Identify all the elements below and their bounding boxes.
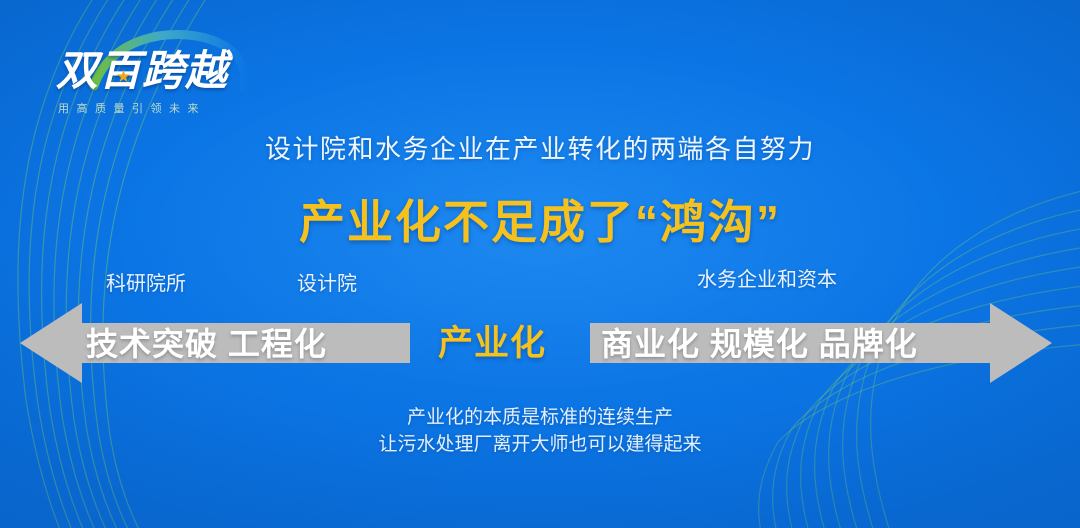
logo: 双百跨越 ★ 用高质量引领未来 [52,24,262,116]
subheading: 设计院和水务企业在产业转化的两端各自努力 [0,129,1080,166]
slide-canvas: 双百跨越 ★ 用高质量引领未来 设计院和水务企业在产业转化的两端各自努力 产业化… [0,0,1080,528]
footnote-line-1: 产业化的本质是标准的连续生产 [0,404,1080,431]
caption-water-enterprises: 水务企业和资本 [697,263,837,292]
footnote: 产业化的本质是标准的连续生产 让污水处理厂离开大师也可以建得起来 [0,404,1080,458]
arrow-diagram: 科研院所 设计院 水务企业和资本 技术突破 工程化 产业化 商业化 规模化 品牌… [0,262,1080,392]
logo-wordmark: 双百跨越 [56,50,228,92]
caption-research-institutes: 科研院所 [106,267,186,296]
left-arrow-label: 技术突破 工程化 [86,328,327,360]
logo-tagline: 用高质量引领未来 [58,100,206,116]
footnote-line-2: 让污水处理厂离开大师也可以建得起来 [0,431,1080,458]
right-arrow-label: 商业化 规模化 品牌化 [601,328,918,360]
caption-design-institute: 设计院 [297,267,357,296]
main-headline: 产业化不足成了“鸿沟” [0,186,1080,252]
center-gap-label: 产业化 [438,326,546,361]
logo-star-icon: ★ [115,68,132,85]
